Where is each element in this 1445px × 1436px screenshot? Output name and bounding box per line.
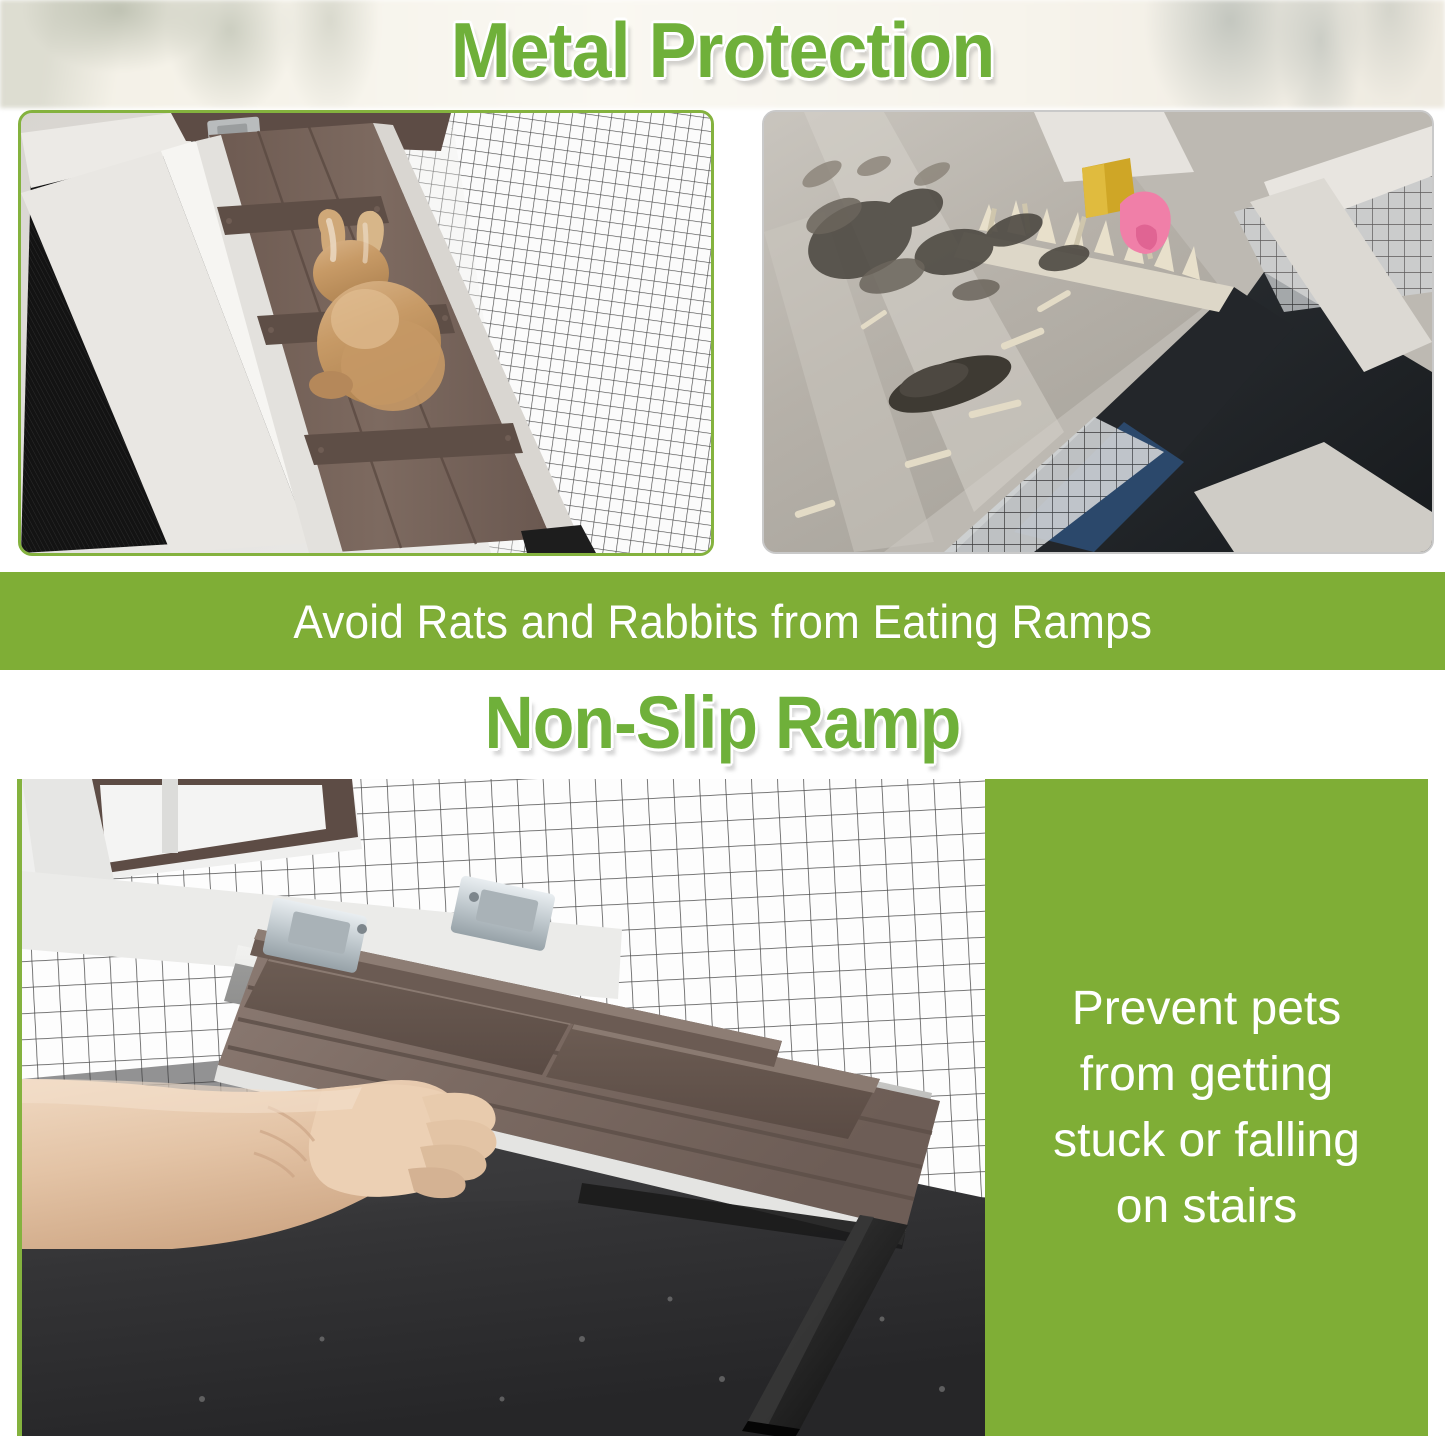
ramp-photo-art xyxy=(22,779,990,1436)
damage-photo-art xyxy=(764,112,1432,552)
photo-chewed-ramp-damage xyxy=(762,110,1434,554)
panel-line-3: stuck or falling xyxy=(1007,1108,1407,1174)
banner-avoid-eating-ramps: Avoid Rats and Rabbits from Eating Ramps xyxy=(0,572,1445,670)
banner-text: Avoid Rats and Rabbits from Eating Ramps xyxy=(293,594,1152,649)
panel-line-4: on stairs xyxy=(1007,1174,1407,1240)
photo-hand-holding-ramp xyxy=(17,779,990,1436)
panel-prevent-pets: Prevent pets from getting stuck or falli… xyxy=(985,779,1428,1436)
panel-text: Prevent pets from getting stuck or falli… xyxy=(1007,976,1407,1240)
page-title-metal-protection: Metal Protection xyxy=(58,5,1387,95)
panel-line-2: from getting xyxy=(1007,1042,1407,1108)
panel-line-1: Prevent pets xyxy=(1007,976,1407,1042)
photo-rabbit-on-ramp xyxy=(18,110,714,556)
rabbit-photo-art xyxy=(21,113,711,553)
page-title-non-slip-ramp: Non-Slip Ramp xyxy=(58,680,1387,766)
